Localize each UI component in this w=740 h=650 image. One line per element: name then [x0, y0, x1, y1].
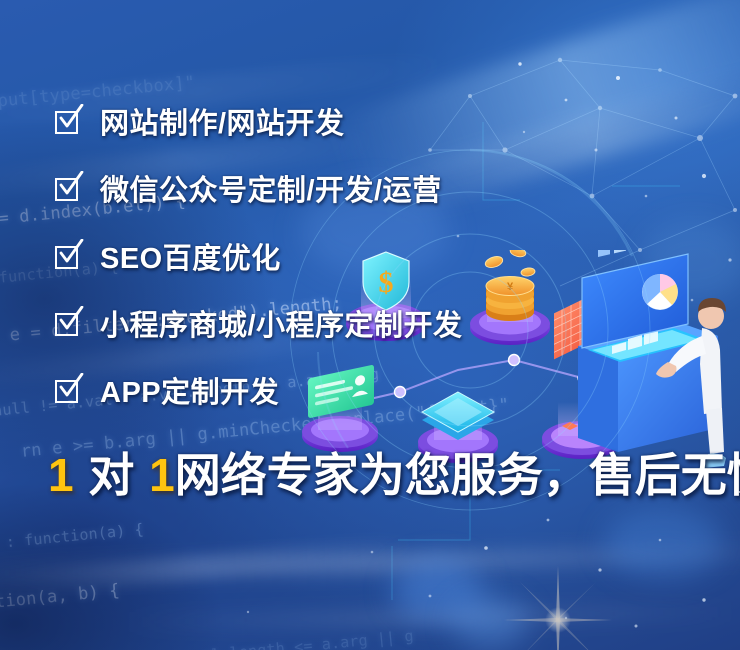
feature-label: 网站制作/网站开发 [100, 110, 345, 139]
tagline-number-first: 1 [48, 449, 74, 501]
feature-item-wechat[interactable]: 微信公众号定制/开发/运营 [55, 174, 442, 208]
tagline-rest: 网络专家为您服务，售后无忧！ [175, 449, 740, 501]
feature-item-seo[interactable]: SEO百度优化 [55, 242, 281, 276]
feature-item-app[interactable]: APP定制开发 [55, 376, 279, 410]
checkbox-checked-icon [55, 380, 82, 407]
feature-label: SEO百度优化 [100, 245, 281, 274]
checkbox-checked-icon [55, 111, 82, 138]
checkbox-checked-icon [55, 313, 82, 340]
checkbox-checked-icon [55, 178, 82, 205]
tagline: 1 对 1网络专家为您服务，售后无忧！ [48, 452, 740, 498]
feature-item-website[interactable]: 网站制作/网站开发 [55, 107, 345, 141]
checkbox-checked-icon [55, 246, 82, 273]
banner-content: 网站制作/网站开发 微信公众号定制/开发/运营 SEO百度优化 小程序商城/ [0, 0, 740, 650]
tagline-mid-word: 对 [88, 449, 134, 501]
feature-label: 微信公众号定制/开发/运营 [100, 177, 442, 206]
feature-label: 小程序商城/小程序定制开发 [100, 312, 463, 341]
promo-banner: nput[type=checkbox]" = d.index(b.el)) { … [0, 0, 740, 650]
feature-item-miniapp[interactable]: 小程序商城/小程序定制开发 [55, 309, 463, 343]
tagline-number-second: 1 [149, 449, 175, 501]
feature-label: APP定制开发 [100, 379, 279, 408]
